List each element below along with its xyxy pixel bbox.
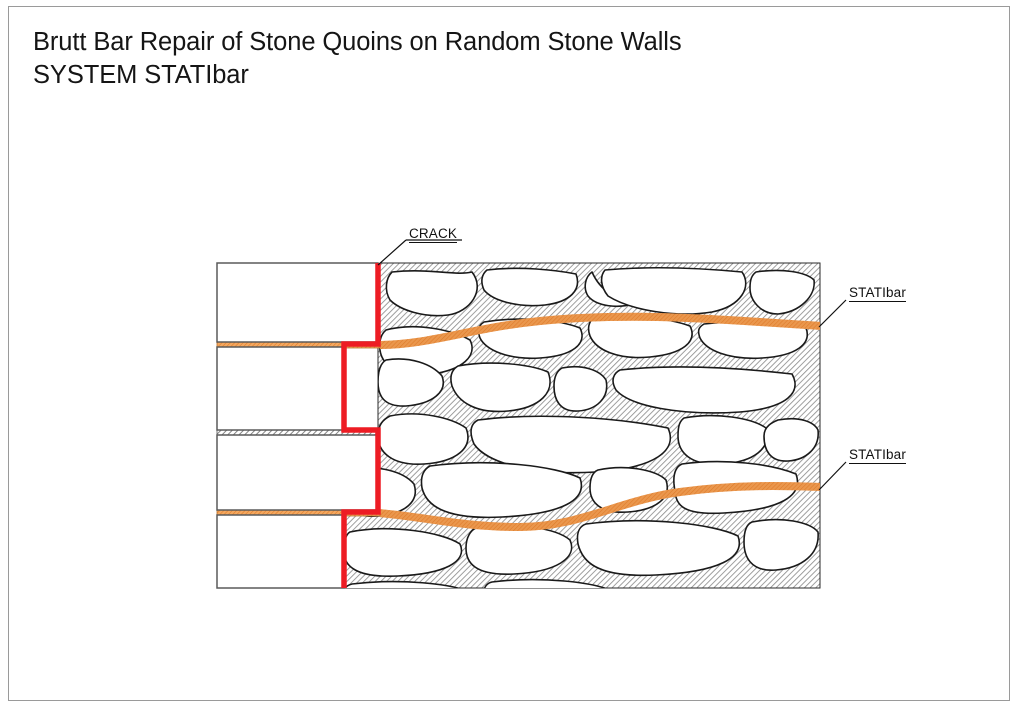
crack-leader — [378, 240, 462, 265]
statibar-bottom-leader — [819, 462, 846, 490]
statibar-label-top: STATIbar — [849, 285, 906, 302]
wall-section-diagram — [0, 0, 1024, 716]
slide: Brutt Bar Repair of Stone Quoins on Rand… — [0, 0, 1024, 716]
crack-label: CRACK — [409, 226, 457, 243]
quoin-block-row3 — [217, 435, 378, 510]
quoin-block-row2 — [217, 347, 344, 430]
statibar-label-bottom: STATIbar — [849, 447, 906, 464]
statibar-top-leader — [819, 300, 846, 327]
quoin-block-row1 — [217, 263, 378, 342]
quoin-block-row4 — [217, 515, 344, 588]
